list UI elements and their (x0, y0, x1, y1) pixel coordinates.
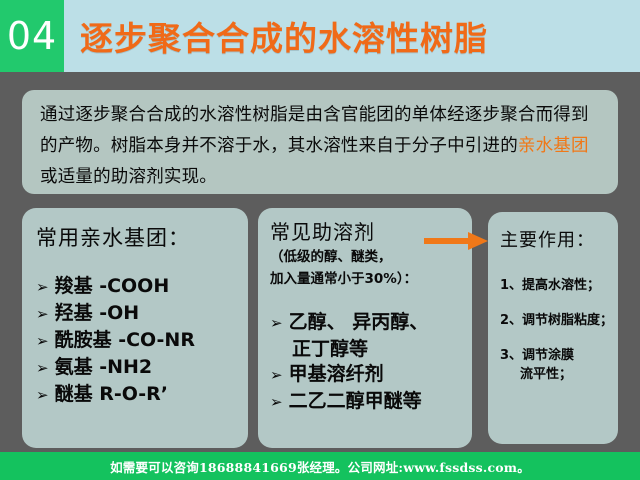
list-item: ➢ 羧基 -COOH (36, 274, 240, 299)
list-item-label: 酰胺基 -CO-NR (55, 328, 195, 352)
arrow-bullet-icon: ➢ (36, 383, 49, 407)
section-number-badge: 04 (0, 0, 64, 72)
panel-mid-note-line2: 加入量通常小于30%）： (270, 268, 466, 290)
function-list: 1、提高水溶性； 2、调节树脂粘度； 3、调节涂膜 流平性； (500, 276, 612, 384)
arrow-bullet-icon: ➢ (36, 275, 49, 299)
list-item: ➢ 氨基 -NH2 (36, 355, 240, 380)
intro-highlight: 亲水基团 (518, 136, 589, 156)
panel-mid-note: （低级的醇、醚类， 加入量通常小于30%）： (270, 246, 466, 290)
arrow-bullet-icon: ➢ (36, 329, 49, 353)
arrow-bullet-icon: ➢ (36, 356, 49, 380)
list-item: ➢ 酰胺基 -CO-NR (36, 328, 240, 353)
panel-hydrophilic-groups: 常用亲水基团： ➢ 羧基 -COOH ➢ 羟基 -OH ➢ 酰胺基 -CO-NR… (22, 208, 248, 448)
list-item: 2、调节树脂粘度； (500, 311, 612, 330)
page-title: 逐步聚合合成的水溶性树脂 (80, 12, 488, 60)
intro-box: 通过逐步聚合合成的水溶性树脂是由含官能团的单体经逐步聚合而得到的产物。树脂本身并… (22, 90, 618, 194)
arrow-bullet-icon: ➢ (270, 311, 283, 336)
list-item-label: 2、调节树脂粘度； (500, 313, 613, 328)
hydrophilic-group-list: ➢ 羧基 -COOH ➢ 羟基 -OH ➢ 酰胺基 -CO-NR ➢ 氨基 -N… (36, 274, 240, 407)
intro-paragraph: 通过逐步聚合合成的水溶性树脂是由含官能团的单体经逐步聚合而得到的产物。树脂本身并… (40, 100, 602, 193)
list-item-label: 1、提高水溶性； (500, 278, 600, 293)
panel-left-title: 常用亲水基团： (36, 222, 240, 252)
list-item-label: 甲基溶纤剂 (289, 362, 384, 387)
list-item: ➢ 二乙二醇甲醚等 (270, 389, 466, 415)
list-item-label: 羧基 -COOH (55, 274, 170, 298)
list-item-label-wrap: 流平性； (520, 365, 612, 384)
intro-part2: 或适量的助溶剂实现。 (40, 167, 217, 187)
list-item: ➢ 乙醇、 异丙醇、 正丁醇等 (270, 310, 466, 362)
arrow-bullet-icon: ➢ (270, 390, 283, 415)
list-item-label: 醚基 R-O-R’ (55, 382, 168, 406)
slide-header: 04 逐步聚合合成的水溶性树脂 (0, 0, 640, 72)
list-item: ➢ 醚基 R-O-R’ (36, 382, 240, 407)
slide-root: 04 逐步聚合合成的水溶性树脂 通过逐步聚合合成的水溶性树脂是由含官能团的单体经… (0, 0, 640, 480)
cosolvent-list: ➢ 乙醇、 异丙醇、 正丁醇等 ➢ 甲基溶纤剂 ➢ 二乙二醇甲醚等 (270, 310, 466, 415)
list-item-label: 乙醇、 异丙醇、 (289, 310, 429, 335)
footer-contact-text: 如需要可以咨询18688841669张经理。公司网址:www.fssdss.co… (110, 457, 530, 476)
list-item-label-wrap: 正丁醇等 (292, 337, 466, 362)
intro-part1: 通过逐步聚合合成的水溶性树脂是由含官能团的单体经逐步聚合而得到的产物。树脂本身并… (40, 105, 589, 156)
arrow-bullet-icon: ➢ (270, 363, 283, 388)
list-item-label: 二乙二醇甲醚等 (289, 389, 422, 414)
section-number: 04 (7, 17, 57, 55)
list-item-label: 氨基 -NH2 (55, 355, 153, 379)
list-item: 3、调节涂膜 流平性； (500, 346, 612, 384)
list-item: 1、提高水溶性； (500, 276, 612, 295)
list-item-label: 羟基 -OH (55, 301, 140, 325)
list-item: ➢ 羟基 -OH (36, 301, 240, 326)
list-item: ➢ 甲基溶纤剂 (270, 362, 466, 388)
footer-bar: 如需要可以咨询18688841669张经理。公司网址:www.fssdss.co… (0, 452, 640, 480)
panel-main-functions: 主要作用： 1、提高水溶性； 2、调节树脂粘度； 3、调节涂膜 流平性； (488, 212, 618, 444)
panel-right-title: 主要作用： (500, 226, 612, 252)
list-item-row: ➢ 乙醇、 异丙醇、 (270, 310, 466, 336)
right-arrow-icon (424, 232, 488, 250)
arrow-bullet-icon: ➢ (36, 302, 49, 326)
list-item-label: 3、调节涂膜 (500, 348, 574, 363)
